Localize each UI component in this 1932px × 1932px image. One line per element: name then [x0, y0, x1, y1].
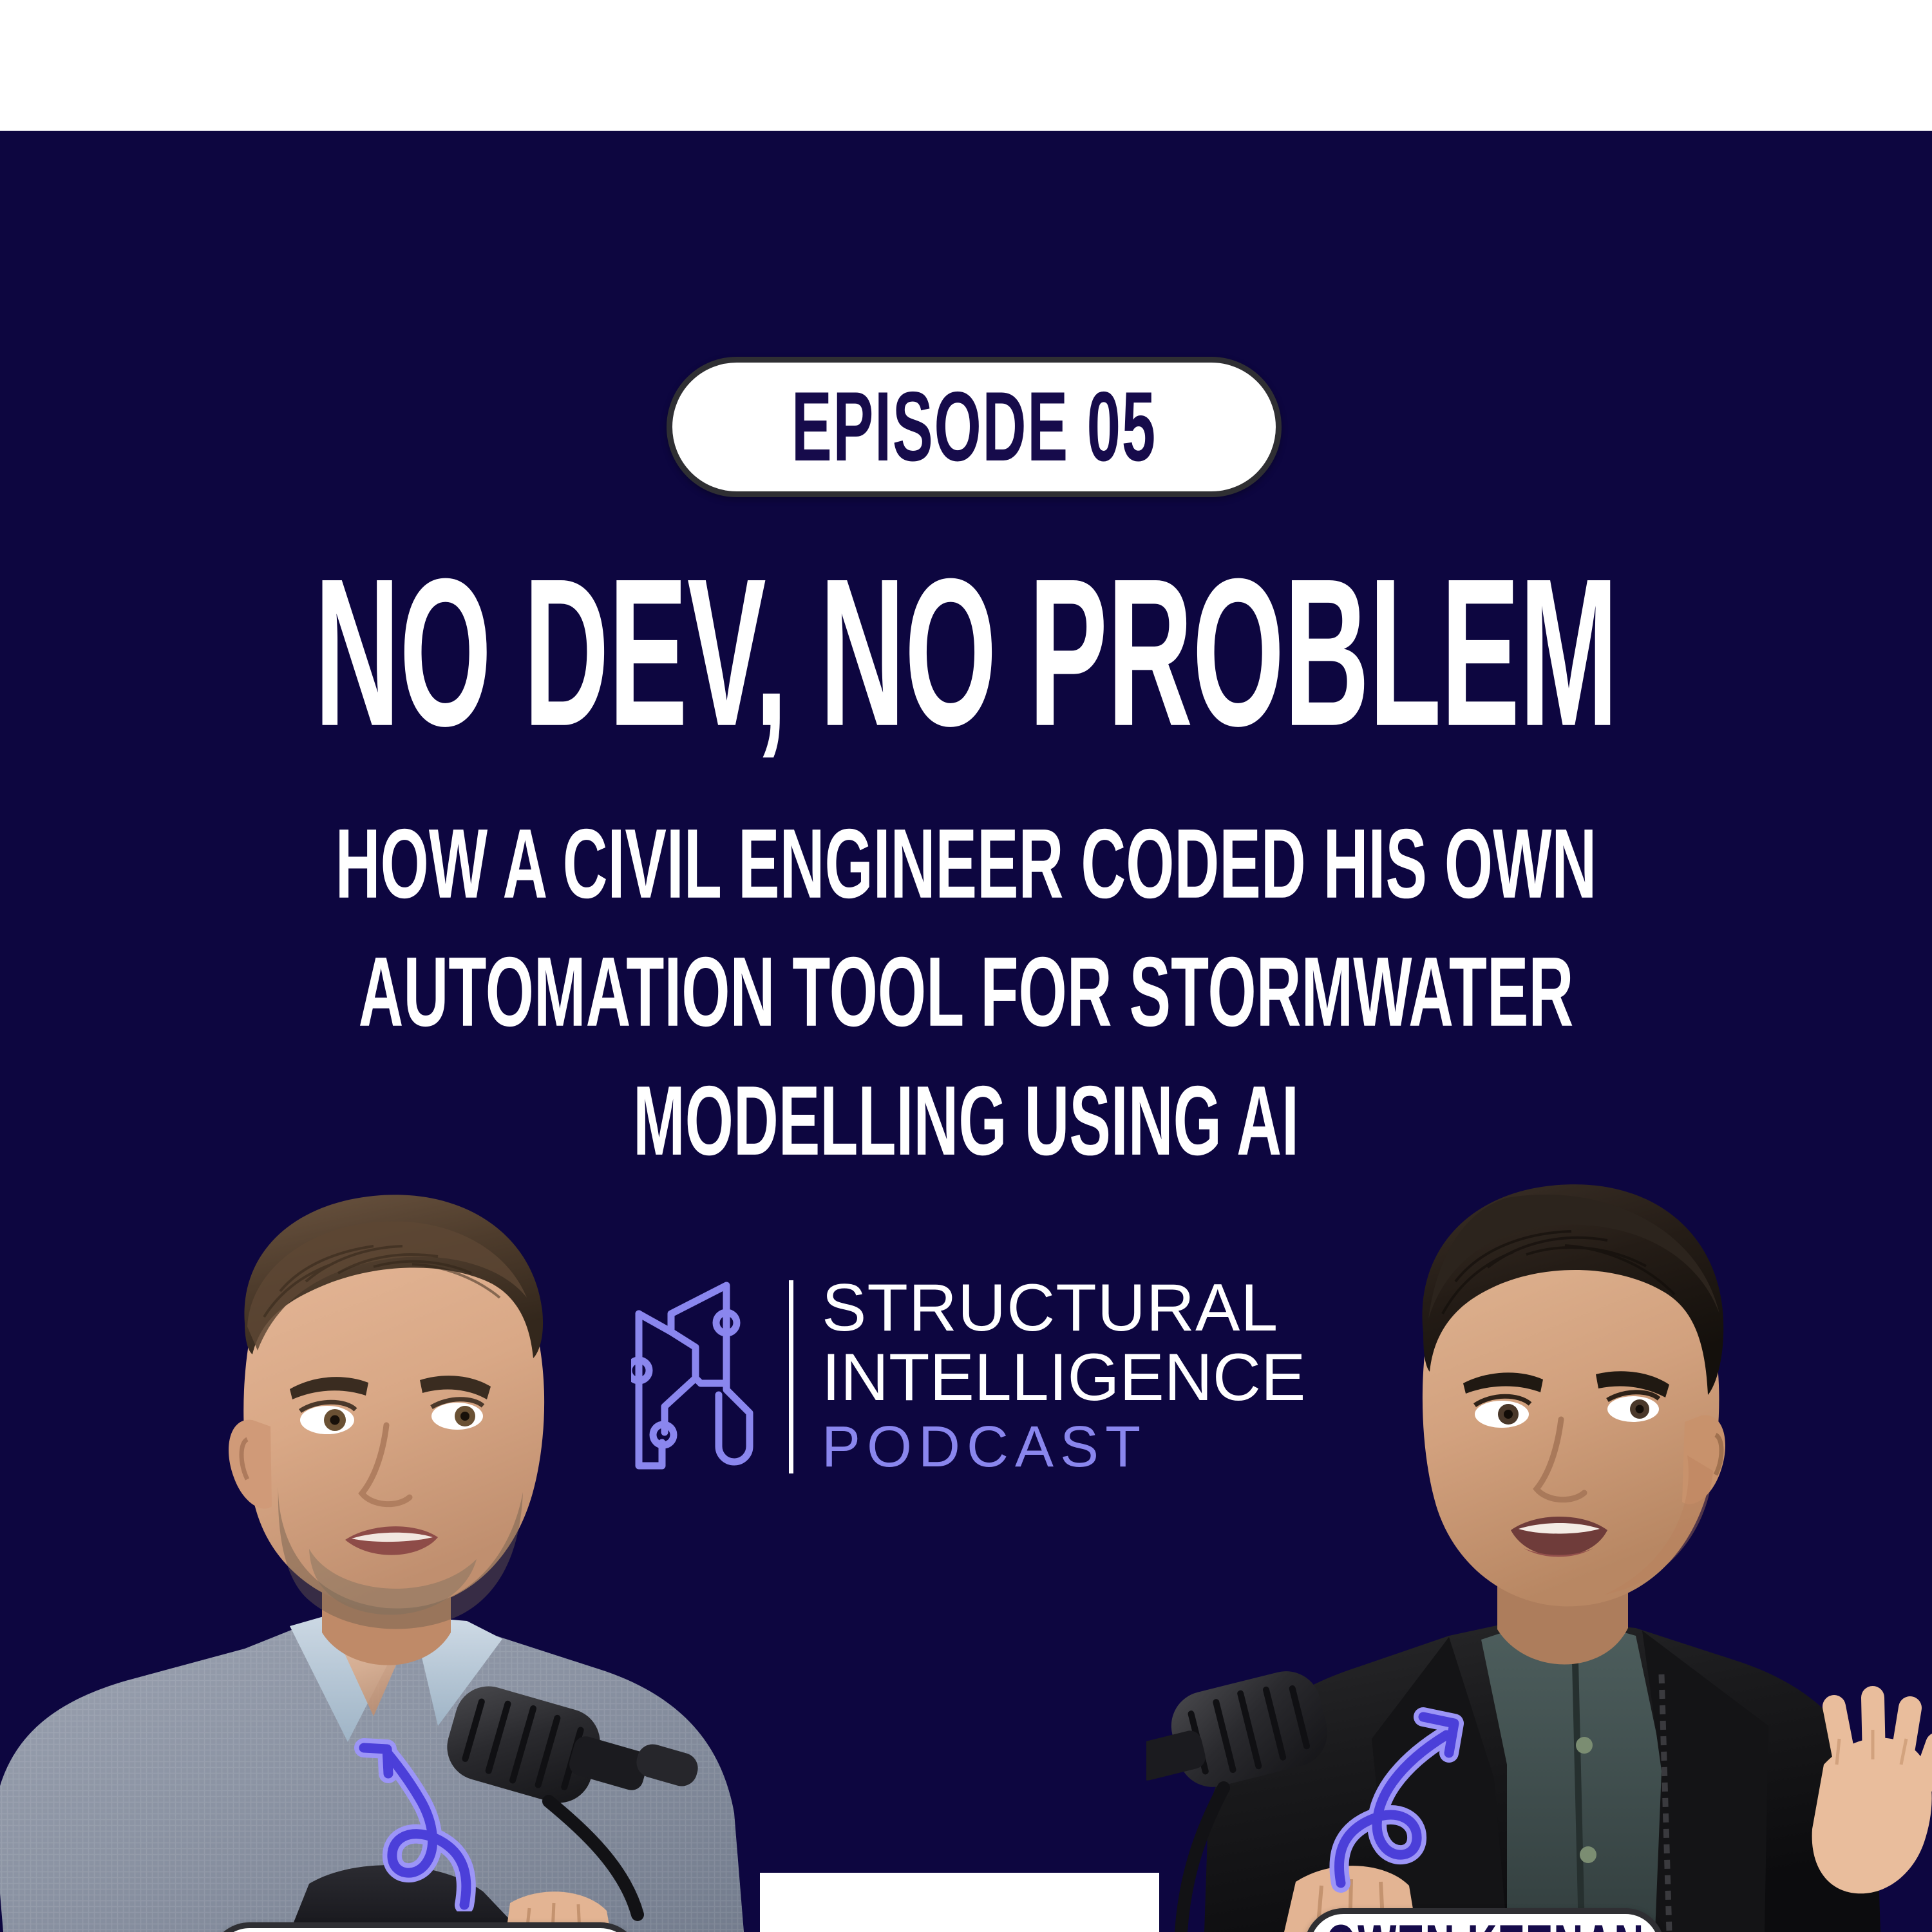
guest-name-badge-owen-keenan: OWEN KEENAN [1304, 1908, 1665, 1932]
brand-lockup: STRUCTURAL INTELLIGENCE PODCAST [631, 1274, 1352, 1480]
curly-arrow-up-left-icon [351, 1712, 499, 1911]
subtitle-line-2: AUTOMATION TOOL FOR STORMWATER [174, 929, 1758, 1057]
brand-line-intelligence: INTELLIGENCE [822, 1343, 1305, 1412]
bottom-white-gap [760, 1873, 1159, 1932]
episode-badge-label: EPISODE 05 [791, 377, 1157, 476]
page-title: NO DEV, NO PROBLEM [193, 556, 1739, 749]
guest-name-label: OWEN KEENAN [1325, 1915, 1644, 1932]
brand-divider [789, 1280, 793, 1473]
podcast-cover-art: EPISODE 05 NO DEV, NO PROBLEM HOW A CIVI… [0, 0, 1932, 1932]
headline-block: NO DEV, NO PROBLEM HOW A CIVIL ENGINEER … [0, 556, 1932, 1097]
guest-photo-owen-keenan [1146, 1095, 1932, 1932]
structural-intelligence-logo-icon [631, 1280, 770, 1473]
guest-name-badge-sebastian-masset: SEBASTIAN MASSET [209, 1922, 641, 1932]
curly-arrow-up-right-icon [1327, 1699, 1488, 1899]
subtitle-line-1: HOW A CIVIL ENGINEER CODED HIS OWN [174, 800, 1758, 929]
navy-stage: EPISODE 05 NO DEV, NO PROBLEM HOW A CIVI… [0, 131, 1932, 1932]
brand-line-podcast: PODCAST [822, 1415, 1305, 1480]
subtitle-line-3: MODELLING USING AI [174, 1057, 1758, 1185]
episode-badge: EPISODE 05 [667, 357, 1282, 497]
brand-wordmark: STRUCTURAL INTELLIGENCE PODCAST [822, 1274, 1305, 1479]
subtitle: HOW A CIVIL ENGINEER CODED HIS OWN AUTOM… [174, 800, 1758, 1186]
brand-line-structural: STRUCTURAL [822, 1274, 1305, 1343]
